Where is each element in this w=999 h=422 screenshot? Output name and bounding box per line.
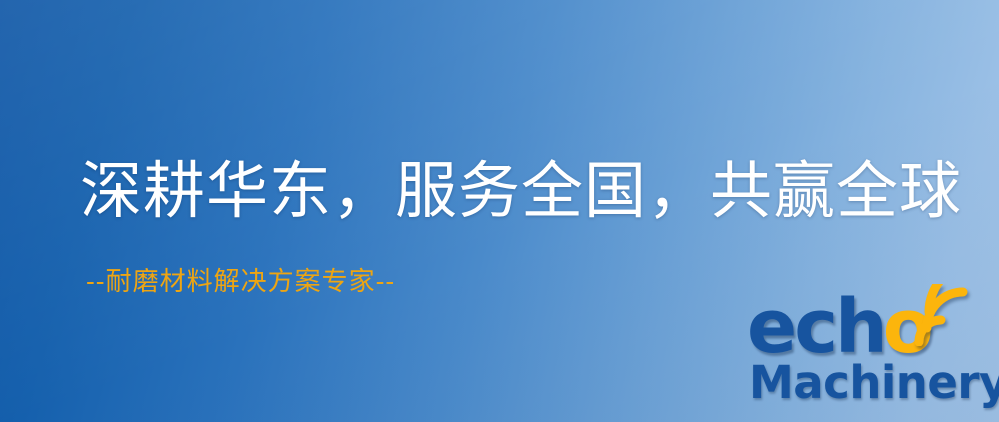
logo-machinery-line: Machinery ®	[749, 358, 999, 408]
logo-machinery-text: Machinery	[749, 358, 999, 408]
logo-o-group: o	[883, 290, 931, 364]
company-logo: ech o Machinery ®	[741, 286, 997, 418]
logo-echo-text: ech	[747, 290, 885, 364]
signal-waves-icon	[913, 284, 971, 346]
banner-headline: 深耕华东，服务全国，共赢全球	[80, 156, 962, 226]
banner-subtitle: --耐磨材料解决方案专家--	[86, 266, 395, 298]
promotional-banner: 深耕华东，服务全国，共赢全球 --耐磨材料解决方案专家-- ech o Mach…	[0, 0, 999, 422]
logo-wordmark: ech o	[747, 286, 931, 364]
